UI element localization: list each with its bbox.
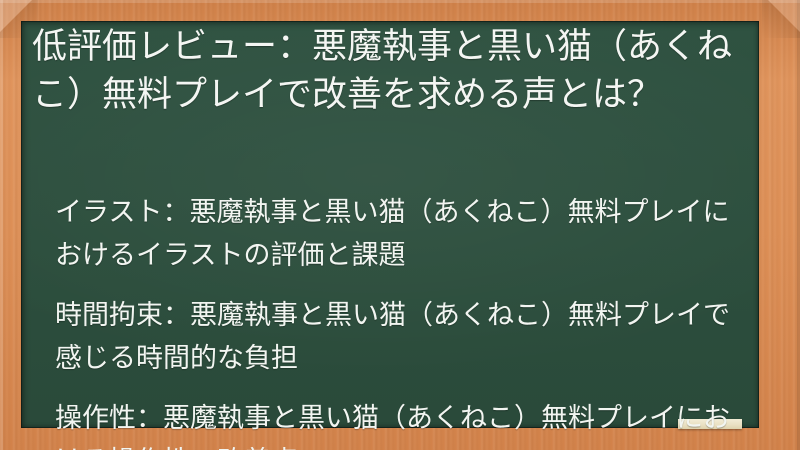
list-item: 時間拘束：悪魔執事と黒い猫（あくねこ）無料プレイで感じる時間的な負担 <box>55 294 745 380</box>
chalkboard-text-layer: 低評価レビュー：悪魔執事と黒い猫（あくねこ）無料プレイで改善を求める声とは？ イ… <box>21 21 759 450</box>
frame-miter-top-right <box>762 0 800 38</box>
blackboard-frame: 低評価レビュー：悪魔執事と黒い猫（あくねこ）無料プレイで改善を求める声とは？ イ… <box>0 0 800 450</box>
list-item: イラスト：悪魔執事と黒い猫（あくねこ）無料プレイにおけるイラストの評価と課題 <box>55 191 745 277</box>
frame-left-bevel <box>0 0 3 450</box>
list-item: 操作性：悪魔執事と黒い猫（あくねこ）無料プレイにおける操作性の改善点 <box>55 397 745 450</box>
frame-top-bevel <box>0 0 800 3</box>
page-title: 低評価レビュー：悪魔執事と黒い猫（あくねこ）無料プレイで改善を求める声とは？ <box>32 23 744 119</box>
topic-list: イラスト：悪魔執事と黒い猫（あくねこ）無料プレイにおけるイラストの評価と課題 時… <box>55 191 745 450</box>
